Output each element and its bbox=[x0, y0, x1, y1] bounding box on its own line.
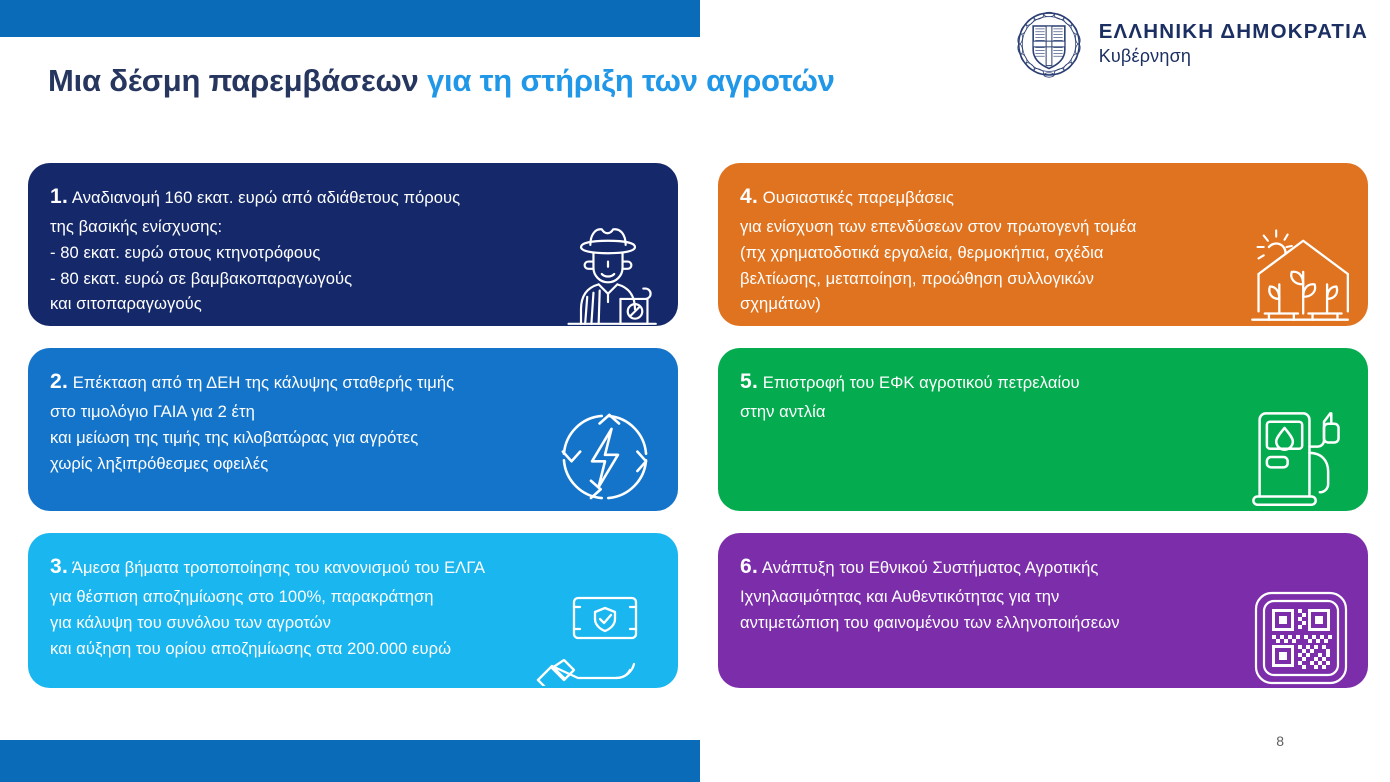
measure-card-6-body: 6. Ανάπτυξη του Εθνικού Συστήματος Αγροτ… bbox=[718, 533, 1368, 688]
measure-card-3-line-2: για θέσπιση αποζημίωσης στο 100%, παρακρ… bbox=[50, 584, 656, 610]
logo-text-block: ΕΛΛΗΝΙΚΗ ΔΗΜΟΚΡΑΤΙΑ Κυβέρνηση bbox=[1099, 20, 1368, 67]
measure-card-5-line-1: 5. Επιστροφή του ΕΦΚ αγροτικού πετρελαίο… bbox=[740, 366, 1346, 399]
measure-card-4-body: 4. Ουσιαστικές παρεμβάσεις για ενίσχυση … bbox=[718, 163, 1368, 326]
measure-card-6-line-1: 6. Ανάπτυξη του Εθνικού Συστήματος Αγροτ… bbox=[740, 551, 1346, 584]
measure-card-5-body: 5. Επιστροφή του ΕΦΚ αγροτικού πετρελαίο… bbox=[718, 348, 1368, 511]
measure-card-1-line-1: 1. Αναδιανομή 160 εκατ. ευρώ από αδιάθετ… bbox=[50, 181, 656, 214]
measure-card-4-number: 4. bbox=[740, 185, 758, 208]
bottom-accent-bar bbox=[0, 740, 700, 782]
measure-card-4-line-5: σχημάτων) bbox=[740, 291, 1346, 317]
measure-card-4-line-2: για ενίσχυση των επενδύσεων στον πρωτογε… bbox=[740, 214, 1346, 240]
measure-card-2-line-3: και μείωση της τιμής της κιλοβατώρας για… bbox=[50, 425, 656, 451]
measure-card-6-number: 6. bbox=[740, 555, 758, 578]
measure-card-2-number: 2. bbox=[50, 370, 68, 393]
measure-card-1-body: 1. Αναδιανομή 160 εκατ. ευρώ από αδιάθετ… bbox=[28, 163, 678, 326]
measure-card-6: 6. Ανάπτυξη του Εθνικού Συστήματος Αγροτ… bbox=[718, 533, 1368, 688]
measure-card-6-line-2: Ιχνηλασιμότητας και Αυθεντικότητας για τ… bbox=[740, 584, 1346, 610]
measure-card-1-line-5: και σιτοπαραγωγούς bbox=[50, 291, 656, 317]
greek-coat-of-arms-icon bbox=[1013, 8, 1085, 80]
measure-card-1-line-2: της βασικής ενίσχυσης: bbox=[50, 214, 656, 240]
measure-card-1-line-3: - 80 εκατ. ευρώ στους κτηνοτρόφους bbox=[50, 240, 656, 266]
top-accent-bar bbox=[0, 0, 700, 37]
government-logo: ΕΛΛΗΝΙΚΗ ΔΗΜΟΚΡΑΤΙΑ Κυβέρνηση bbox=[1013, 8, 1368, 80]
measure-card-1: 1. Αναδιανομή 160 εκατ. ευρώ από αδιάθετ… bbox=[28, 163, 678, 326]
measure-card-2-line-2: στο τιμολόγιο ΓΑΙΑ για 2 έτη bbox=[50, 399, 656, 425]
measure-card-2: 2. Επέκταση από τη ΔΕΗ της κάλυψης σταθε… bbox=[28, 348, 678, 511]
measure-card-3-body: 3. Άμεσα βήματα τροποποίησης του κανονισ… bbox=[28, 533, 678, 688]
page-title-part2: για τη στήριξη των αγροτών bbox=[427, 63, 835, 98]
measure-card-4-line-4: βελτίωσης, μεταποίηση, προώθηση συλλογικ… bbox=[740, 266, 1346, 292]
measure-card-4: 4. Ουσιαστικές παρεμβάσεις για ενίσχυση … bbox=[718, 163, 1368, 326]
measure-card-6-line-3: αντιμετώπιση του φαινομένου των ελληνοπο… bbox=[740, 610, 1346, 636]
measure-card-3-line-1: 3. Άμεσα βήματα τροποποίησης του κανονισ… bbox=[50, 551, 656, 584]
measure-card-1-number: 1. bbox=[50, 185, 68, 208]
logo-title: ΕΛΛΗΝΙΚΗ ΔΗΜΟΚΡΑΤΙΑ bbox=[1099, 20, 1368, 44]
measure-card-5-line-2: στην αντλία bbox=[740, 399, 1346, 425]
measure-card-2-line-4: χωρίς ληξιπρόθεσμες οφειλές bbox=[50, 451, 656, 477]
measure-card-2-body: 2. Επέκταση από τη ΔΕΗ της κάλυψης σταθε… bbox=[28, 348, 678, 511]
page-title: Μια δέσμη παρεμβάσεων για τη στήριξη των… bbox=[48, 63, 835, 99]
measure-card-2-line-1: 2. Επέκταση από τη ΔΕΗ της κάλυψης σταθε… bbox=[50, 366, 656, 399]
measure-card-1-line-4: - 80 εκατ. ευρώ σε βαμβακοπαραγωγούς bbox=[50, 266, 656, 292]
measure-card-3-number: 3. bbox=[50, 555, 68, 578]
measure-card-4-line-1: 4. Ουσιαστικές παρεμβάσεις bbox=[740, 181, 1346, 214]
measure-card-3-line-4: και αύξηση του ορίου αποζημίωσης στα 200… bbox=[50, 636, 656, 662]
measure-card-5: 5. Επιστροφή του ΕΦΚ αγροτικού πετρελαίο… bbox=[718, 348, 1368, 511]
page-title-part1: Μια δέσμη παρεμβάσεων bbox=[48, 63, 427, 98]
page-number: 8 bbox=[1276, 733, 1284, 749]
measure-card-4-line-3: (πχ χρηματοδοτικά εργαλεία, θερμοκήπια, … bbox=[740, 240, 1346, 266]
measure-card-3-line-3: για κάλυψη του συνόλου των αγροτών bbox=[50, 610, 656, 636]
measure-card-3: 3. Άμεσα βήματα τροποποίησης του κανονισ… bbox=[28, 533, 678, 688]
logo-subtitle: Κυβέρνηση bbox=[1099, 46, 1368, 67]
measure-card-5-number: 5. bbox=[740, 370, 758, 393]
